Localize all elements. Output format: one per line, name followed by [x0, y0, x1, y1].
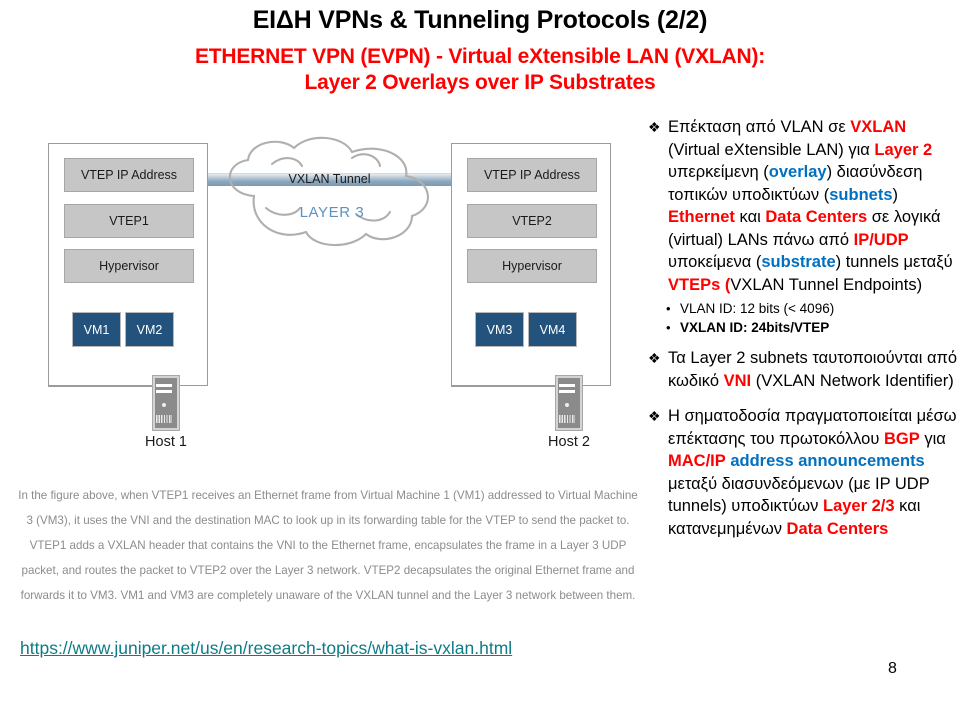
sub-vlan-id: •VLAN ID: 12 bits (< 4096): [666, 299, 958, 318]
vxlan-diagram: LAYER 3 VXLAN Tunnel VTEP IP Address VTE…: [22, 126, 638, 456]
bullet-vni: ❖Τα Layer 2 subnets ταυτοποιούνται από κ…: [648, 347, 958, 392]
layer3-label: LAYER 3: [237, 204, 427, 221]
host1-vm1: VM1: [72, 312, 121, 347]
host1-bar-hypervisor: Hypervisor: [64, 249, 194, 283]
host1-label: Host 1: [106, 434, 226, 450]
bullet-spacer: [648, 394, 958, 405]
sub-vxlan-id: •VXLAN ID: 24bits/VTEP: [666, 318, 958, 337]
host1-box: VTEP IP Address VTEP1 Hypervisor VM1 VM2: [48, 143, 208, 386]
host1-bar-vtep1: VTEP1: [64, 204, 194, 238]
host2-bar-hypervisor: Hypervisor: [467, 249, 597, 283]
diamond-bullet-icon: ❖: [648, 116, 668, 296]
bullet-vni-text: Τα Layer 2 subnets ταυτοποιούνται από κω…: [668, 347, 958, 392]
bullet-bgp: ❖Η σηματοδοσία πραγματοποιείται μέσω επέ…: [648, 405, 958, 540]
bullet-bgp-text: Η σηματοδοσία πραγματοποιείται μέσω επέκ…: [668, 405, 958, 540]
sub-vxlan-id-text: VXLAN ID: 24bits/VTEP: [680, 318, 958, 337]
host1-bar-vtep-ip: VTEP IP Address: [64, 158, 194, 192]
host2-bar-vtep-ip: VTEP IP Address: [467, 158, 597, 192]
host2-server-icon: [556, 376, 582, 430]
host2-label: Host 2: [509, 434, 629, 450]
notes-column: ❖Επέκταση από VLAN σε VXLAN (Virtual eXt…: [648, 116, 958, 542]
subtitle-line-1: ETHERNET VPN (EVPN) - Virtual eXtensible…: [60, 44, 900, 70]
layer3-cloud-icon: [214, 136, 446, 252]
bullet-vxlan-extension-sublist: •VLAN ID: 12 bits (< 4096)•VXLAN ID: 24b…: [666, 299, 958, 337]
bullet-vxlan-extension-text: Επέκταση από VLAN σε VXLAN (Virtual eXte…: [668, 116, 958, 296]
host1-server-icon: [153, 376, 179, 430]
slide-root: ΕΙΔΗ VPNs & Tunneling Protocols (2/2) ET…: [0, 0, 960, 720]
subtitle-line-2: Layer 2 Overlays over IP Substrates: [60, 70, 900, 96]
dot-bullet-icon: •: [666, 318, 680, 337]
dot-bullet-icon: •: [666, 299, 680, 318]
diamond-bullet-icon: ❖: [648, 405, 668, 540]
host2-vm4: VM4: [528, 312, 577, 347]
page-subtitle: ETHERNET VPN (EVPN) - Virtual eXtensible…: [60, 44, 900, 96]
diamond-bullet-icon: ❖: [648, 347, 668, 392]
vxlan-tunnel-label: VXLAN Tunnel: [206, 170, 453, 188]
page-number: 8: [888, 660, 897, 678]
host2-vm3: VM3: [475, 312, 524, 347]
figure-caption: In the figure above, when VTEP1 receives…: [18, 483, 638, 608]
host2-stem: [451, 385, 569, 387]
host2-box: VTEP IP Address VTEP2 Hypervisor VM3 VM4: [451, 143, 611, 386]
host1-stem: [48, 385, 166, 387]
sub-vlan-id-text: VLAN ID: 12 bits (< 4096): [680, 299, 958, 318]
host2-bar-vtep2: VTEP2: [467, 204, 597, 238]
page-title: ΕΙΔΗ VPNs & Tunneling Protocols (2/2): [0, 6, 960, 35]
source-link[interactable]: https://www.juniper.net/us/en/research-t…: [20, 638, 512, 659]
bullet-vxlan-extension: ❖Επέκταση από VLAN σε VXLAN (Virtual eXt…: [648, 116, 958, 296]
host1-vm2: VM2: [125, 312, 174, 347]
